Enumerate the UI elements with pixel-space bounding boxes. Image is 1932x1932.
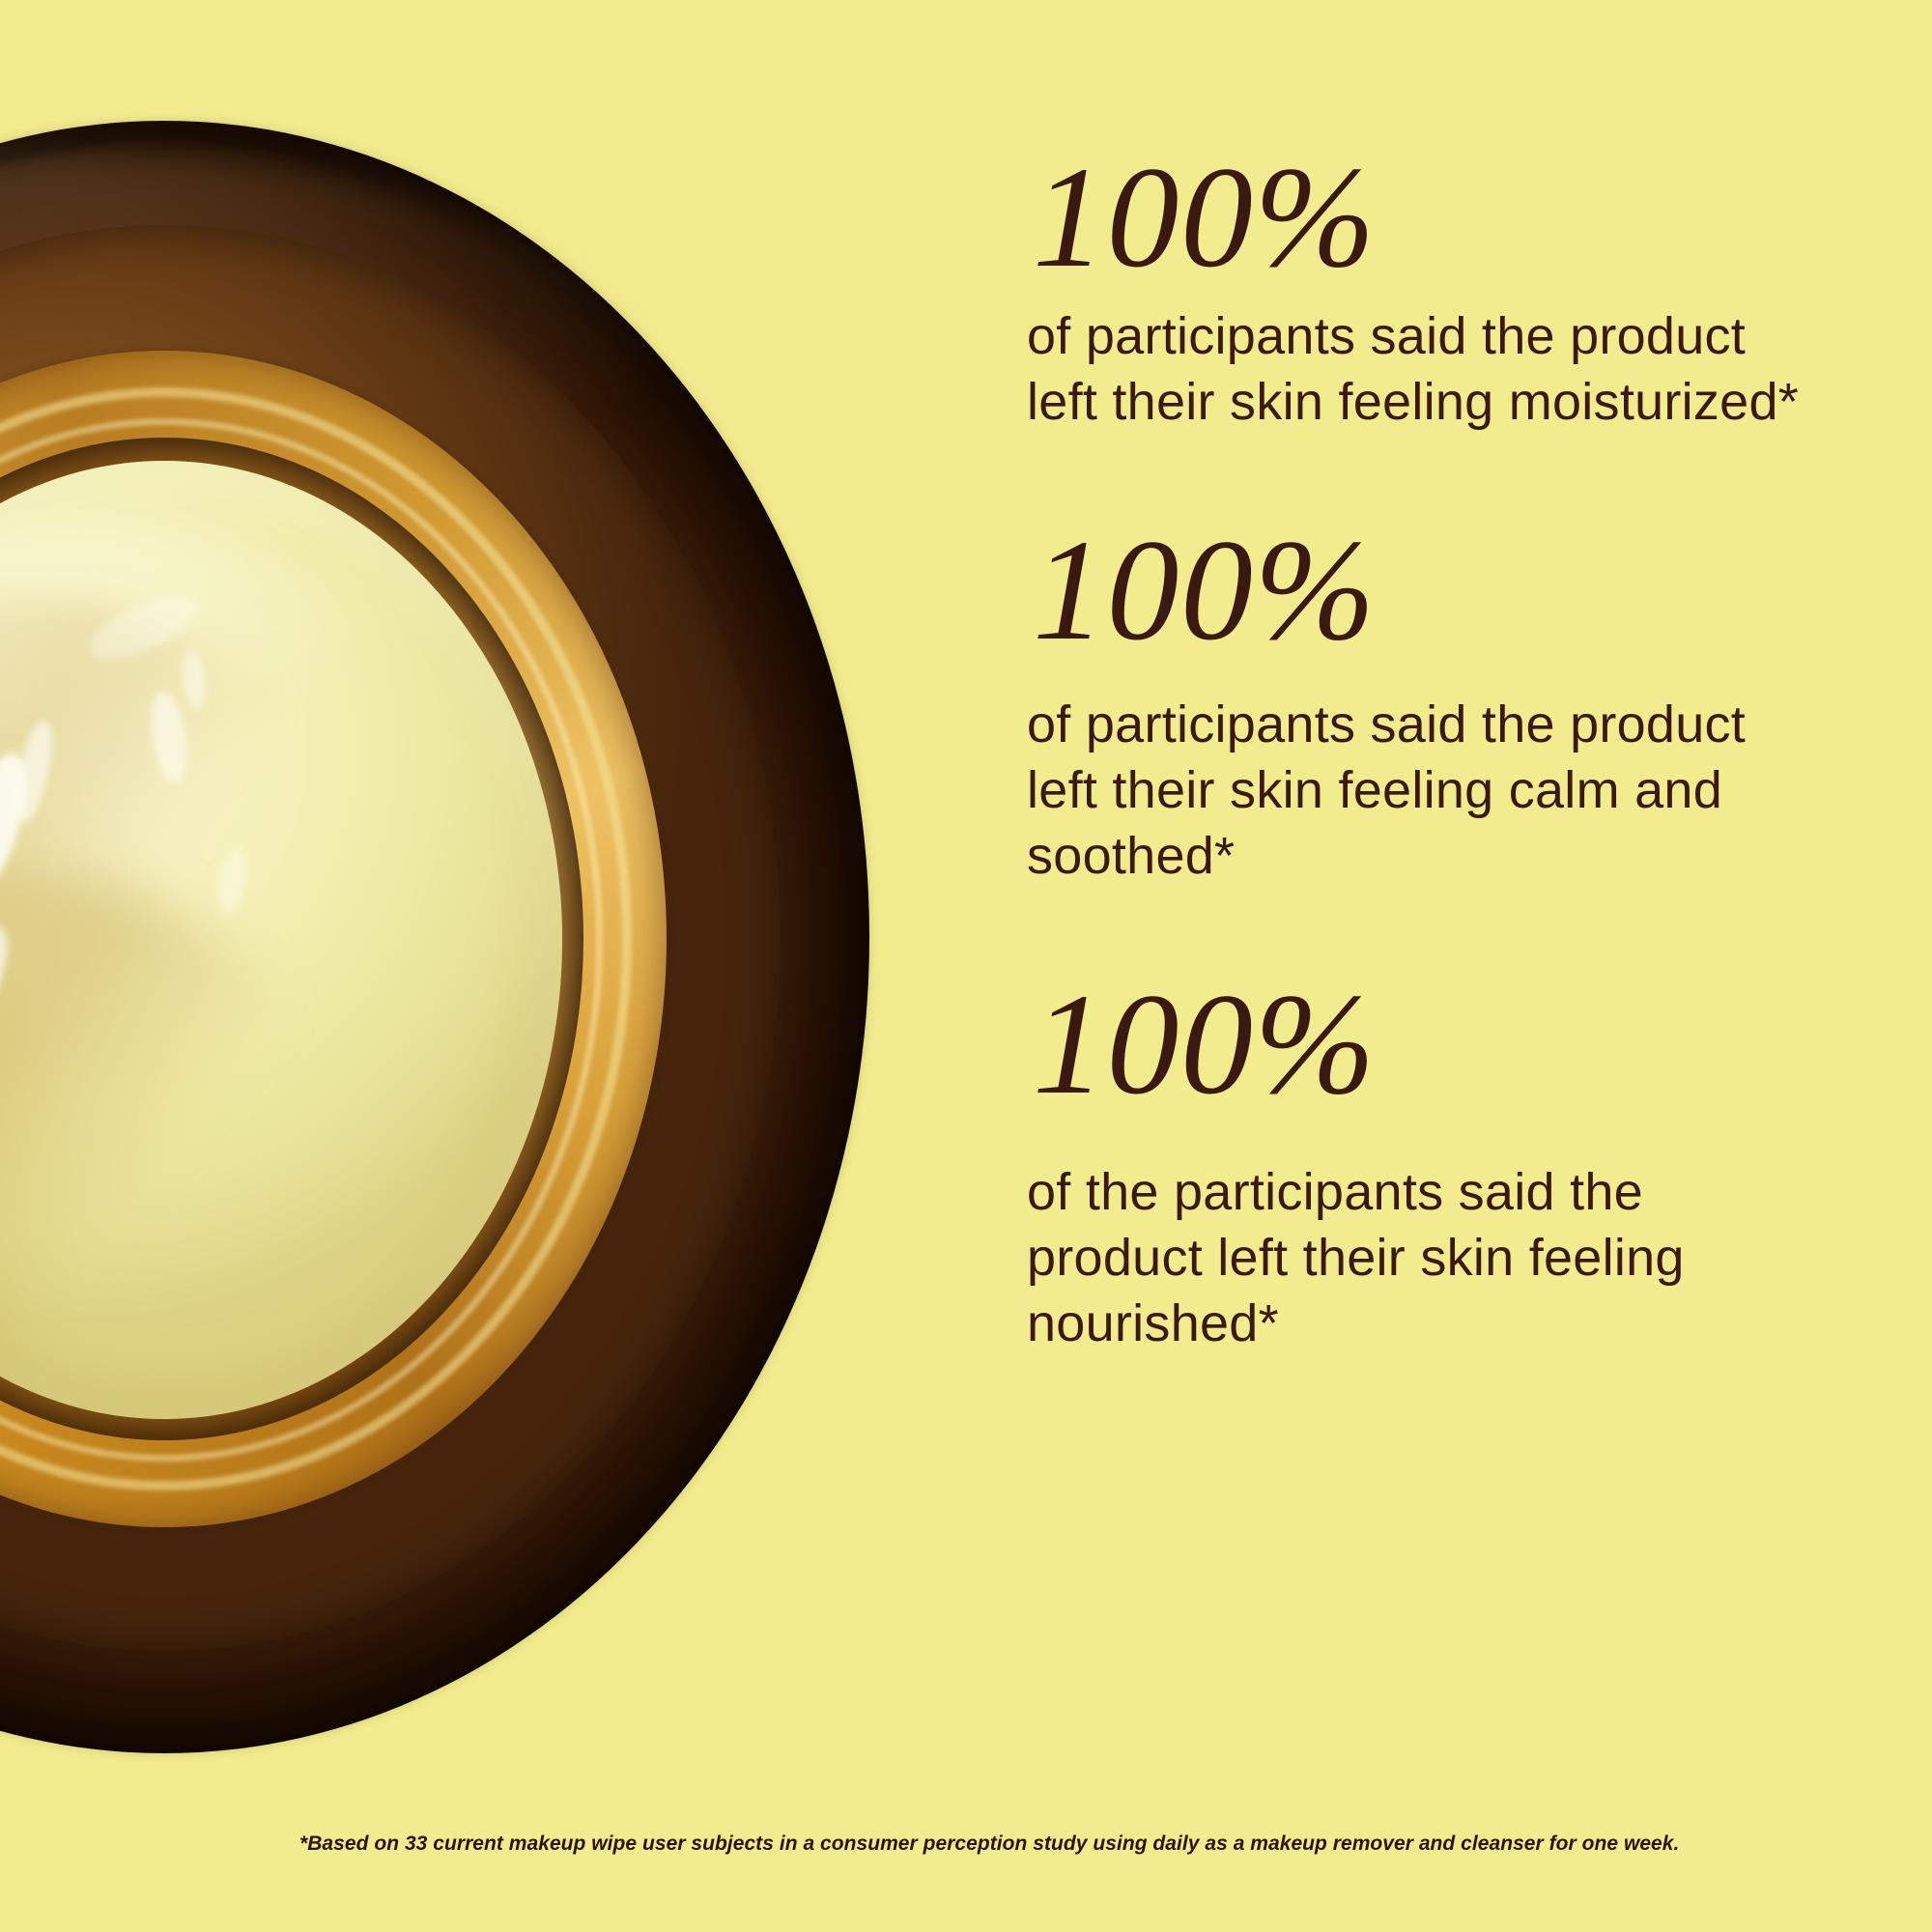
jar-mid-ring [0, 225, 781, 1651]
balm-gloss-highlight [146, 689, 191, 785]
marketing-claims-graphic: 100% of participants said the product le… [0, 0, 1932, 1932]
jar-outer-glass [0, 121, 869, 1753]
balm-gloss-highlight [81, 584, 205, 672]
balm-gloss-highlight [214, 845, 251, 916]
balm-gloss-highlight [9, 718, 59, 826]
balm-ridge [0, 519, 423, 1060]
claim-percent: 100% [1033, 518, 1858, 663]
claims-column: 100% of participants said the product le… [1027, 145, 1858, 1356]
claim-statement: of participants said the product left th… [1027, 692, 1800, 889]
balm-surface [0, 461, 562, 1419]
balm-gloss-highlight [181, 649, 208, 711]
balm-swirl-lower [0, 826, 358, 1409]
jar-gold-highlight-inner [0, 418, 603, 1462]
claim-statement: of the participants said the product lef… [1027, 1159, 1800, 1356]
study-footnote: *Based on 33 current makeup wipe user su… [299, 1831, 1652, 1857]
balm-gloss-highlight [0, 919, 19, 1040]
jar-gold-highlight [0, 387, 632, 1491]
claim-statement: of participants said the product left th… [1027, 303, 1800, 435]
jar-inner-lip-shadow [0, 438, 583, 1440]
jar-gold-ring [0, 351, 667, 1527]
claim-block-nourished: 100% of the participants said the produc… [1027, 972, 1858, 1356]
jar-outer-rim [0, 128, 864, 1746]
balm-swirl-upper [0, 499, 452, 1370]
claim-percent: 100% [1033, 972, 1858, 1117]
claim-block-calm-soothed: 100% of participants said the product le… [1027, 518, 1858, 889]
claim-percent: 100% [1033, 145, 1858, 290]
jar-shoulder-sheen [0, 154, 657, 656]
product-jar-image [0, 121, 869, 1753]
claim-block-moisturized: 100% of participants said the product le… [1027, 145, 1858, 435]
balm-gloss-highlight [0, 747, 39, 900]
